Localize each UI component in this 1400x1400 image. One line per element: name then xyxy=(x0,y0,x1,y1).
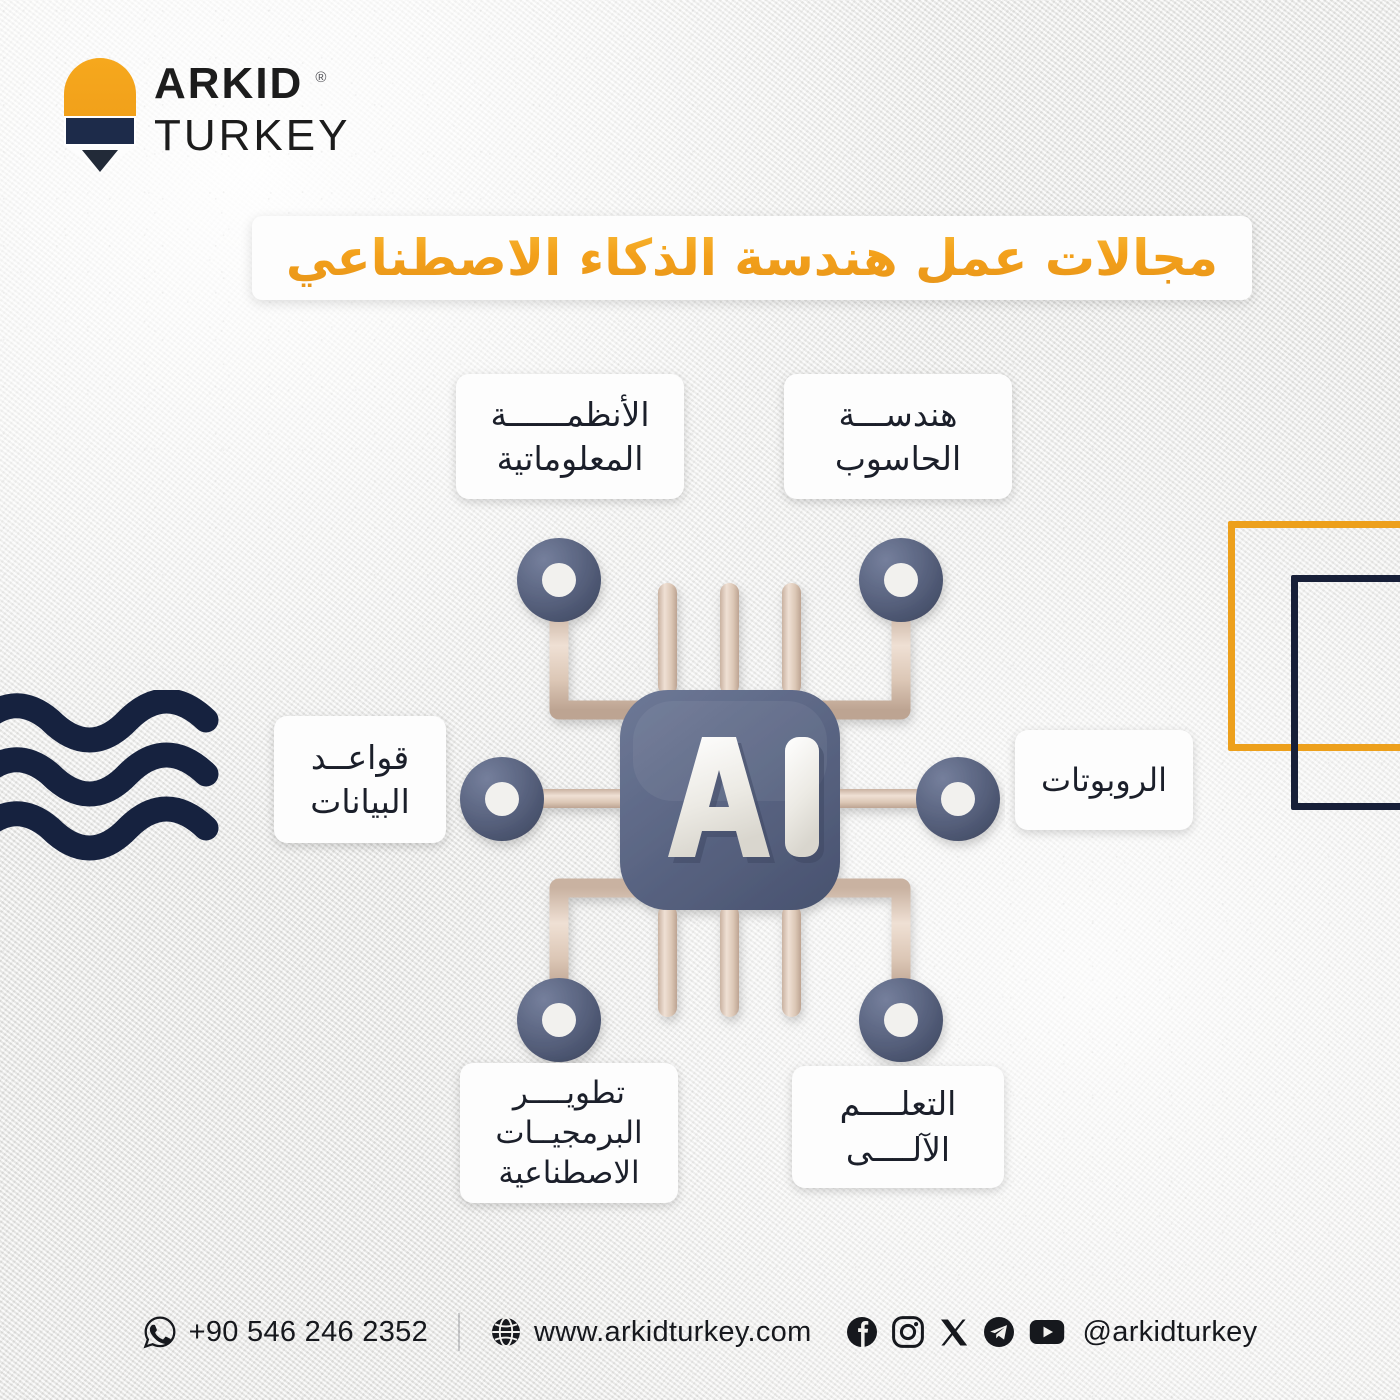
label-box-robotics[interactable]: الروبوتات xyxy=(1015,730,1193,830)
label-box-machine-learning[interactable]: التعلــــم الآلــــى xyxy=(792,1066,1004,1188)
footer-website[interactable]: www.arkidturkey.com xyxy=(490,1316,812,1349)
footer-social-handle: @arkidturkey xyxy=(1083,1316,1258,1349)
label-box-databases[interactable]: قواعــد البيانات xyxy=(274,716,446,843)
poster-canvas: ARKID® TURKEY مجالات عمل هندسة الذكاء ال… xyxy=(0,0,1400,1400)
footer-divider xyxy=(458,1313,460,1351)
telegram-icon[interactable] xyxy=(983,1316,1015,1348)
footer-website-url: www.arkidturkey.com xyxy=(534,1316,812,1349)
label-box-software-development[interactable]: تطويــــر البرمجيــات الاصطناعية xyxy=(460,1063,678,1203)
label-box-computer-engineering[interactable]: هندســـة الحاسوب xyxy=(784,374,1012,499)
location-pin-logo-icon xyxy=(64,58,136,170)
youtube-icon[interactable] xyxy=(1029,1318,1065,1346)
decor-rectangle-navy xyxy=(1291,575,1400,810)
brand-name-arkid: ARKID xyxy=(154,59,303,108)
footer-phone[interactable]: +90 546 246 2352 xyxy=(143,1315,428,1349)
brand-logo-text: ARKID® TURKEY xyxy=(154,58,350,158)
footer-contact-bar: +90 546 246 2352 www.arkidturkey.com xyxy=(0,1300,1400,1364)
brand-logo: ARKID® TURKEY xyxy=(64,58,350,170)
page-title-banner: مجالات عمل هندسة الذكاء الاصطناعي xyxy=(252,216,1252,300)
x-twitter-icon[interactable] xyxy=(938,1317,969,1348)
wave-lines-icon xyxy=(0,690,234,865)
registered-mark-icon: ® xyxy=(315,69,328,86)
whatsapp-icon xyxy=(143,1315,177,1349)
label-text-robotics: الروبوتات xyxy=(1041,759,1167,801)
facebook-icon[interactable] xyxy=(846,1316,878,1348)
page-title: مجالات عمل هندسة الذكاء الاصطناعي xyxy=(286,229,1218,287)
label-text-computer-engineering: هندســـة الحاسوب xyxy=(835,393,961,480)
social-icon-row xyxy=(846,1316,1065,1348)
globe-icon xyxy=(490,1316,522,1348)
label-text-software-development: تطويــــر البرمجيــات الاصطناعية xyxy=(495,1073,642,1194)
label-text-databases: قواعــد البيانات xyxy=(310,736,410,823)
label-text-information-systems: الأنظمــــــة المعلوماتية xyxy=(490,393,649,480)
instagram-icon[interactable] xyxy=(892,1316,924,1348)
brand-name-secondary: TURKEY xyxy=(154,114,350,158)
logo-pin-band xyxy=(64,116,136,146)
footer-phone-number: +90 546 246 2352 xyxy=(189,1316,428,1349)
label-text-machine-learning: التعلــــم الآلــــى xyxy=(840,1081,957,1172)
footer-social: @arkidturkey xyxy=(846,1316,1258,1349)
logo-pin-top xyxy=(64,58,136,120)
label-box-information-systems[interactable]: الأنظمــــــة المعلوماتية xyxy=(456,374,684,499)
ai-microchip-icon xyxy=(455,525,1005,1075)
brand-name-primary: ARKID® xyxy=(154,62,350,106)
